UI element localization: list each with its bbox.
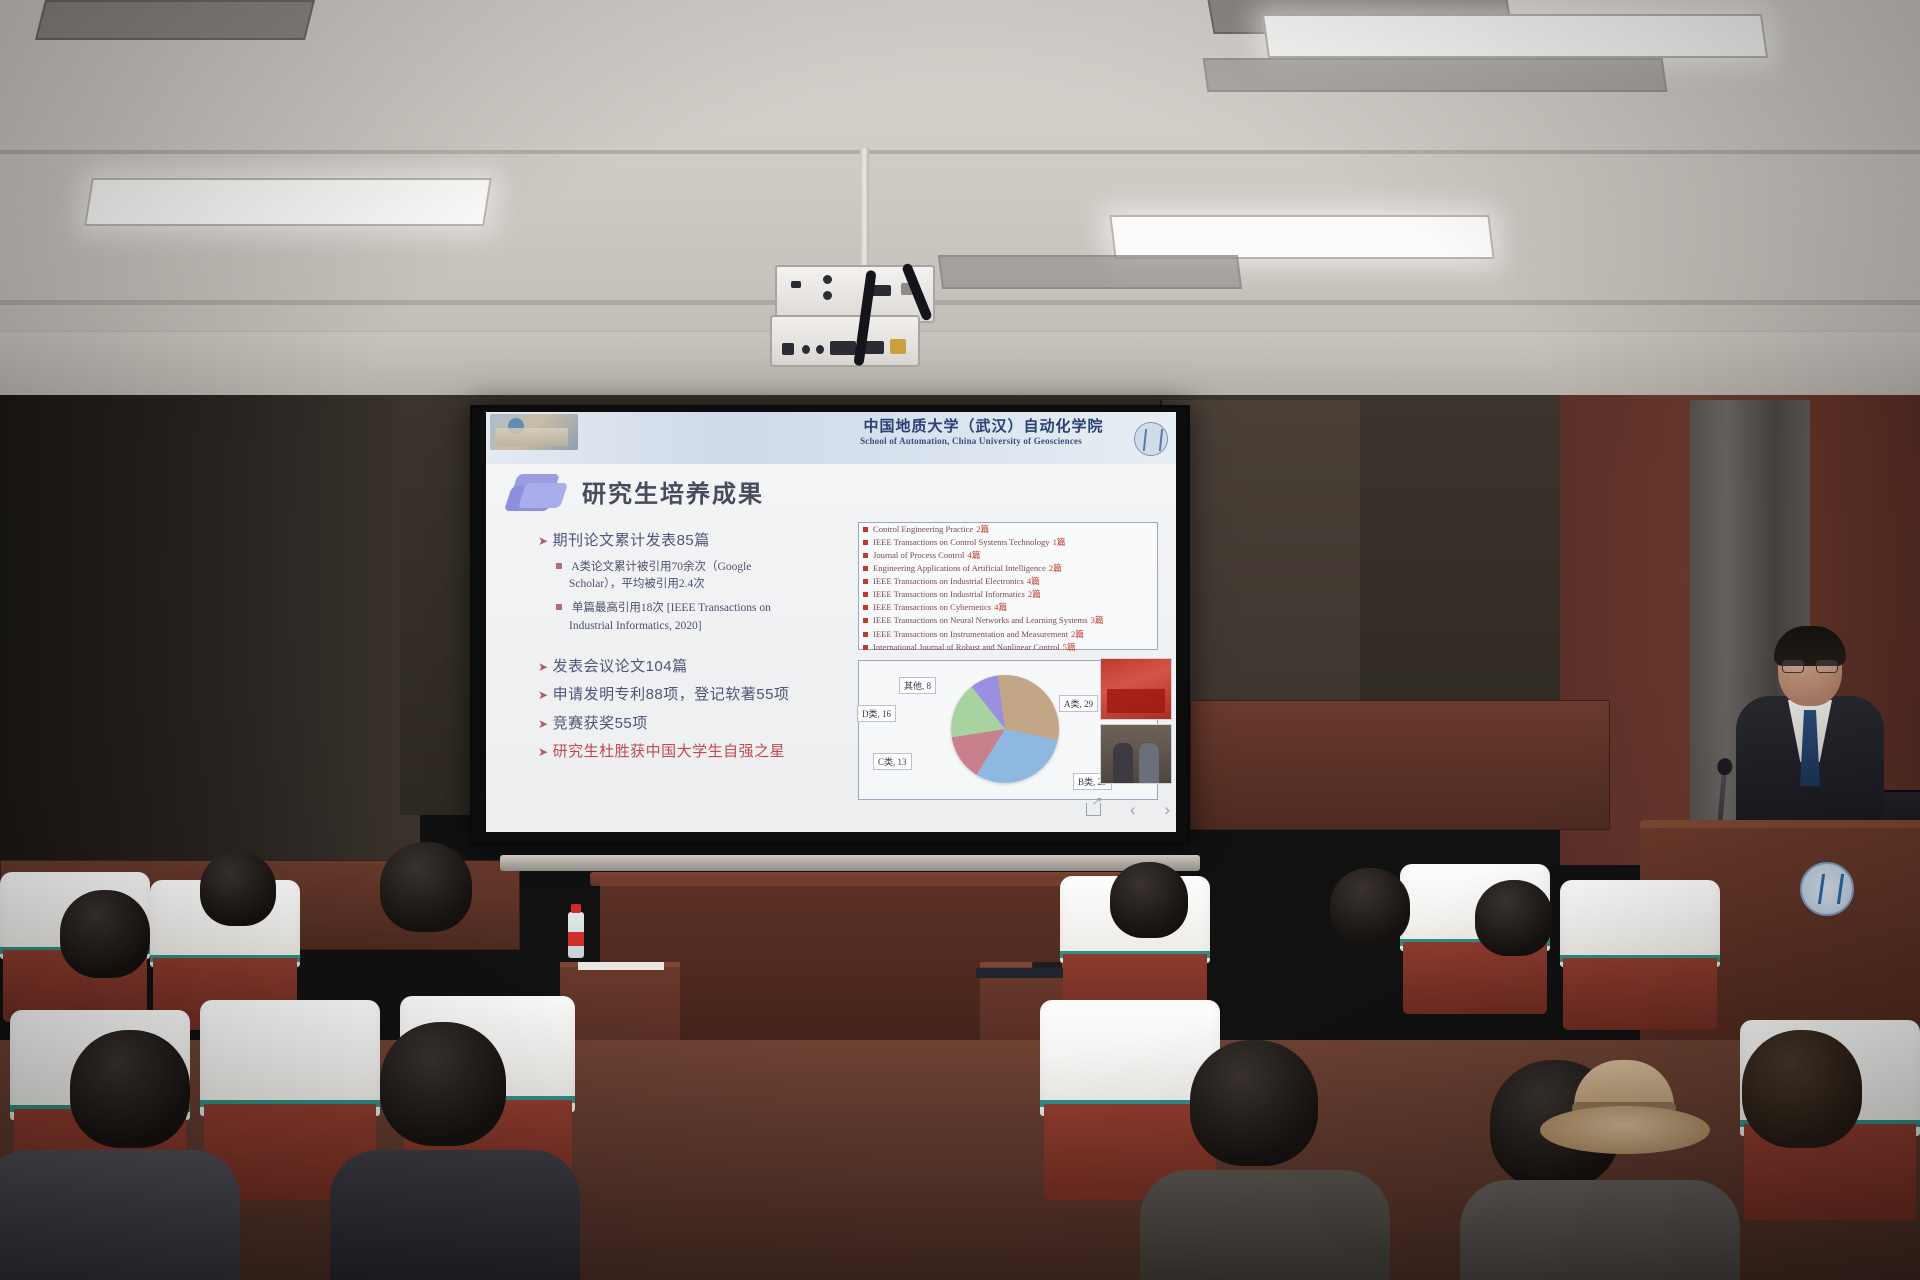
audience-member-head <box>1110 862 1188 938</box>
lecture-hall-scene: 中国地质大学（武汉）自动化学院 School of Automation, Ch… <box>0 0 1920 1280</box>
journal-row: IEEE Transactions on Cybernetics4篇 <box>859 601 1157 614</box>
journal-row: Control Engineering Practice2篇 <box>859 523 1157 536</box>
university-seal-icon <box>1134 422 1168 456</box>
slide-title-icon <box>508 474 564 512</box>
logo-badge <box>508 418 524 434</box>
pie-chart-graphic <box>951 675 1059 783</box>
slide-navigation[interactable]: ‹ › <box>1086 798 1170 820</box>
left-wall <box>0 395 420 895</box>
journal-row: Journal of Process Control4篇 <box>859 549 1157 562</box>
ceiling-light-1 <box>1262 14 1768 58</box>
ceiling-light-3 <box>1109 215 1494 259</box>
audience-seat <box>1560 880 1720 1030</box>
notebook <box>976 968 1072 978</box>
campus-photo-thumbnail <box>490 414 578 450</box>
audience-member-head <box>380 1022 506 1146</box>
journal-row: IEEE Transactions on Neural Networks and… <box>859 614 1157 627</box>
audience-member-head <box>70 1030 190 1148</box>
audience-member-hat <box>1540 1060 1710 1156</box>
projector-body <box>770 315 920 367</box>
audience-member-head <box>1742 1030 1862 1148</box>
audience-member-head <box>1475 880 1553 956</box>
pie-label-d: D类, 16 <box>857 705 896 722</box>
previous-slide-button[interactable]: ‹ <box>1130 801 1136 818</box>
university-emblem <box>1800 862 1854 916</box>
pie-label-other: 其他, 8 <box>899 677 936 694</box>
audience-member-head <box>200 852 276 926</box>
share-icon[interactable] <box>1086 803 1101 816</box>
audience-member-head <box>380 842 472 932</box>
ceiling-band <box>0 150 1920 154</box>
university-name-cn: 中国地质大学（武汉）自动化学院 <box>841 415 1126 436</box>
journal-row: IEEE Transactions on Instrumentation and… <box>859 628 1157 641</box>
journal-row: IEEE Transactions on Industrial Informat… <box>859 588 1157 601</box>
ceiling-light-housing <box>35 0 315 40</box>
bullet-conference-papers: 发表会议论文104篇 <box>538 656 834 679</box>
audience-shoulders <box>0 1150 240 1280</box>
ceiling-light-housing <box>938 255 1242 289</box>
next-slide-button[interactable]: › <box>1164 801 1170 818</box>
bullet-patents: 申请发明专利88项，登记软著55项 <box>538 684 834 707</box>
screen-roller-bar <box>500 855 1200 871</box>
audience-member-head <box>60 890 150 978</box>
journal-row: International Journal of Robust and Nonl… <box>859 641 1157 654</box>
projector-pole <box>860 148 869 268</box>
two-people-photo <box>1100 724 1172 784</box>
bullet-student-award: 研究生杜胜获中国大学生自强之星 <box>538 741 834 764</box>
audience-shoulders <box>1140 1170 1390 1280</box>
journal-row: Engineering Applications of Artificial I… <box>859 562 1157 575</box>
journal-row: IEEE Transactions on Industrial Electron… <box>859 575 1157 588</box>
university-name-en: School of Automation, China University o… <box>816 436 1126 446</box>
pie-label-c: C类, 13 <box>873 753 912 770</box>
presenter-glasses <box>1782 660 1838 673</box>
notebook <box>578 962 664 970</box>
audience-shoulders <box>1460 1180 1740 1280</box>
bullet-journal-papers: 期刊论文累计发表85篇 <box>538 530 834 553</box>
presentation-slide: 中国地质大学（武汉）自动化学院 School of Automation, Ch… <box>486 412 1176 832</box>
award-ceremony-photo <box>1100 658 1172 720</box>
water-bottle <box>568 912 584 958</box>
audience-shoulders <box>330 1150 580 1280</box>
pie-label-a: A类, 29 <box>1059 695 1098 712</box>
slide-title: 研究生培养成果 <box>582 474 764 509</box>
audience-member-head <box>1190 1040 1318 1166</box>
journal-row: IEEE Transactions on Control Systems Tec… <box>859 536 1157 549</box>
bullet-max-citation: 单篇最高引用18次 [IEEE Transactions on Industri… <box>556 600 834 636</box>
bullet-competition-awards: 竞赛获奖55项 <box>538 713 834 736</box>
slide-header: 中国地质大学（武汉）自动化学院 School of Automation, Ch… <box>486 412 1176 464</box>
slide-bullet-list: 期刊论文累计发表85篇 A类论文累计被引用70余次（Google Scholar… <box>538 530 834 770</box>
bullet-citations: A类论文累计被引用70余次（Google Scholar），平均被引用2.4次 <box>556 559 834 595</box>
ceiling-light-housing <box>1203 58 1668 92</box>
ceiling-light-2 <box>84 178 492 226</box>
journal-publication-list: Control Engineering Practice2篇 IEEE Tran… <box>858 522 1158 650</box>
ceiling-band <box>0 300 1920 305</box>
wood-wall-panel <box>1190 700 1610 830</box>
audience-member-head <box>1330 868 1410 946</box>
